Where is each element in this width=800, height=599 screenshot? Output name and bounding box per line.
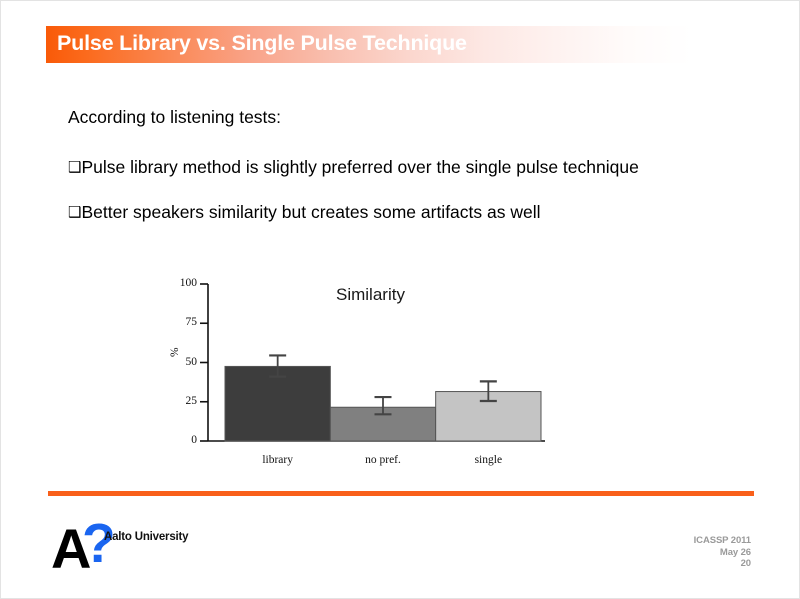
bullet-item-2: ❑Better speakers similarity but creates … bbox=[68, 200, 688, 224]
bullet-item-2-label: Better speakers similarity but creates s… bbox=[81, 202, 540, 222]
similarity-bar-chart: Similarity % 0255075100 libraryno pref.s… bbox=[161, 271, 581, 486]
bullet-item-1: ❑Pulse library method is slightly prefer… bbox=[68, 155, 688, 179]
slide-title-bar: Pulse Library vs. Single Pulse Technique bbox=[46, 26, 692, 63]
footer-meta-line-3: 20 bbox=[694, 558, 751, 570]
y-tick-label: 100 bbox=[157, 277, 197, 289]
footer-divider bbox=[48, 491, 754, 496]
x-tick-label: no pref. bbox=[330, 454, 435, 466]
slide-body: According to listening tests: ❑Pulse lib… bbox=[68, 106, 688, 245]
footer-meta-line-1: ICASSP 2011 bbox=[694, 535, 751, 547]
question-mark-icon: ? bbox=[82, 516, 116, 571]
square-bullet-icon: ❑ bbox=[68, 203, 81, 221]
y-tick-label: 50 bbox=[157, 356, 197, 368]
y-tick-label: 0 bbox=[157, 434, 197, 446]
y-tick-label: 75 bbox=[157, 316, 197, 328]
footer-meta: ICASSP 2011May 2620 bbox=[694, 535, 751, 570]
page-title: Pulse Library vs. Single Pulse Technique bbox=[57, 31, 467, 56]
lead-text: According to listening tests: bbox=[68, 106, 688, 128]
chart-title: Similarity bbox=[336, 285, 405, 305]
square-bullet-icon: ❑ bbox=[68, 158, 81, 176]
x-tick-label: library bbox=[225, 454, 330, 466]
footer-meta-line-2: May 26 bbox=[694, 547, 751, 559]
y-tick-label: 25 bbox=[157, 395, 197, 407]
bullet-item-1-label: Pulse library method is slightly preferr… bbox=[81, 157, 638, 177]
slide-canvas: Pulse Library vs. Single Pulse Technique… bbox=[0, 0, 800, 599]
x-tick-label: single bbox=[436, 454, 541, 466]
organization-name: Aalto University bbox=[104, 531, 188, 543]
